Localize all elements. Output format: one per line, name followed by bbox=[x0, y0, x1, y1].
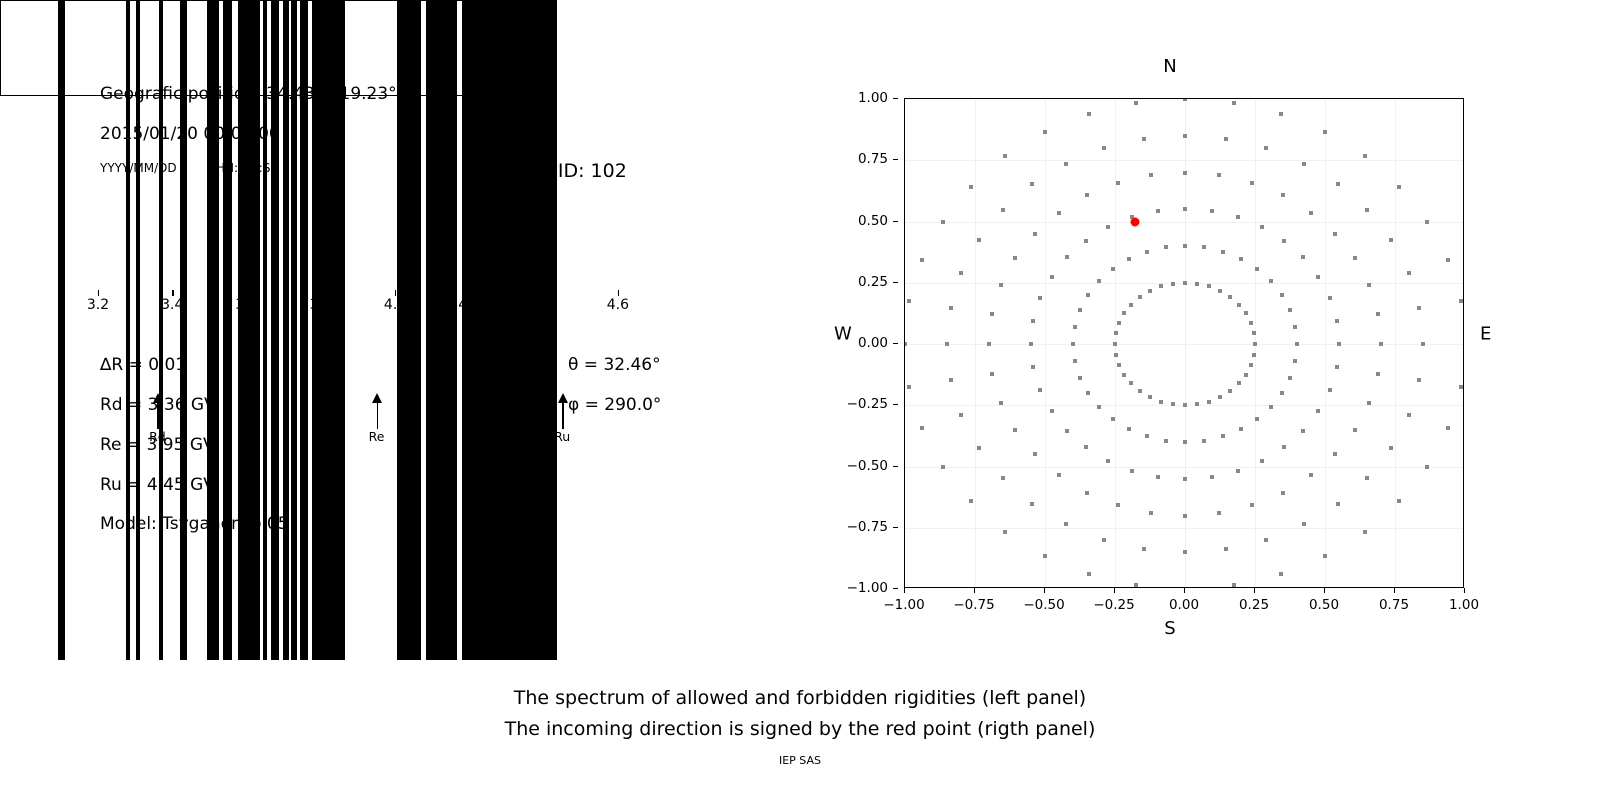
x-axis-labels: −1.00−0.75−0.50−0.250.000.250.500.751.00 bbox=[904, 588, 1464, 618]
scatter-point bbox=[1365, 208, 1369, 212]
scatter-point bbox=[1389, 238, 1393, 242]
forbidden-band bbox=[238, 0, 260, 96]
axis-tick-label: 3.2 bbox=[87, 297, 109, 313]
scatter-point bbox=[969, 185, 973, 189]
scatter-point bbox=[1064, 522, 1068, 526]
scatter-point bbox=[1087, 112, 1091, 116]
scatter-point bbox=[1337, 342, 1341, 346]
scatter-point bbox=[941, 220, 945, 224]
scatter-point bbox=[1353, 428, 1357, 432]
scatter-point bbox=[1129, 381, 1133, 385]
axis-tick bbox=[321, 290, 322, 296]
scatter-point bbox=[1106, 459, 1110, 463]
scatter-point bbox=[1446, 426, 1450, 430]
y-axis-tick-label: 0.00 bbox=[858, 335, 888, 351]
arrow-shaft bbox=[562, 402, 564, 429]
scatter-point bbox=[1239, 257, 1243, 261]
scatter-point bbox=[1111, 267, 1115, 271]
x-axis-tick bbox=[1394, 588, 1395, 593]
scatter-point bbox=[1030, 182, 1034, 186]
y-axis-tick bbox=[893, 98, 898, 99]
y-axis-tick-label: 0.75 bbox=[858, 151, 888, 167]
param-ru: Ru = 4.45 GV bbox=[100, 475, 215, 495]
scatter-point bbox=[1323, 554, 1327, 558]
x-axis-tick bbox=[1044, 588, 1045, 593]
scatter-point bbox=[1260, 459, 1264, 463]
scatter-point bbox=[1183, 207, 1187, 211]
y-axis-tick-label: 1.00 bbox=[858, 90, 888, 106]
scatter-point bbox=[1255, 417, 1259, 421]
scatter-point bbox=[1218, 289, 1222, 293]
forbidden-band bbox=[462, 0, 557, 96]
scatter-point bbox=[1097, 405, 1101, 409]
scatter-point bbox=[1164, 245, 1168, 249]
scatter-point bbox=[1142, 547, 1146, 551]
scatter-point bbox=[1138, 295, 1142, 299]
scatter-point bbox=[1183, 171, 1187, 175]
scatter-point bbox=[1293, 359, 1297, 363]
x-axis-tick-label: −1.00 bbox=[883, 597, 924, 613]
scatter-point bbox=[1236, 469, 1240, 473]
scatter-point bbox=[1316, 409, 1320, 413]
scatter-point bbox=[1279, 112, 1283, 116]
scatter-point bbox=[1367, 283, 1371, 287]
scatter-point bbox=[1085, 491, 1089, 495]
scatter-point bbox=[1333, 232, 1337, 236]
scatter-point bbox=[1117, 321, 1121, 325]
axis-tick bbox=[172, 290, 173, 296]
forbidden-band bbox=[397, 0, 421, 96]
scatter-point bbox=[1264, 146, 1268, 150]
scatter-point bbox=[1293, 325, 1297, 329]
scatter-point bbox=[1207, 284, 1211, 288]
scatter-point bbox=[1376, 312, 1380, 316]
scatter-point bbox=[1463, 342, 1464, 346]
scatter-point bbox=[1029, 342, 1033, 346]
scatter-point bbox=[1446, 258, 1450, 262]
scatter-point bbox=[1183, 403, 1187, 407]
arrow-shaft bbox=[377, 402, 379, 429]
axis-tick-label: 3.6 bbox=[235, 297, 257, 313]
gridline-vertical bbox=[1045, 99, 1046, 587]
scatter-point bbox=[1122, 311, 1126, 315]
scatter-point bbox=[1043, 130, 1047, 134]
x-axis-tick bbox=[1254, 588, 1255, 593]
scatter-point bbox=[1117, 363, 1121, 367]
scatter-point bbox=[1145, 434, 1149, 438]
scatter-point bbox=[1336, 182, 1340, 186]
scatter-point bbox=[1116, 503, 1120, 507]
scatter-point bbox=[1323, 130, 1327, 134]
scatter-point bbox=[949, 306, 953, 310]
scatter-point bbox=[1244, 373, 1248, 377]
scatter-point bbox=[1281, 193, 1285, 197]
scatter-point bbox=[1159, 284, 1163, 288]
scatter-point bbox=[1129, 303, 1133, 307]
y-axis-tick-label: −0.75 bbox=[847, 519, 888, 535]
scatter-point bbox=[1407, 413, 1411, 417]
scatter-point bbox=[1183, 477, 1187, 481]
scatter-point bbox=[1195, 402, 1199, 406]
param-model: Model: Tsyganenko 05 bbox=[100, 514, 289, 534]
scatter-point bbox=[945, 342, 949, 346]
scatter-point bbox=[1097, 279, 1101, 283]
scatter-point bbox=[1013, 428, 1017, 432]
scatter-point bbox=[1328, 388, 1332, 392]
scatter-point bbox=[1417, 378, 1421, 382]
scatter-point bbox=[1224, 137, 1228, 141]
scatter-point bbox=[1071, 342, 1075, 346]
gridline-vertical bbox=[1325, 99, 1326, 587]
caption-line-2: The incoming direction is signed by the … bbox=[0, 718, 1600, 740]
scatter-point bbox=[999, 401, 1003, 405]
scatter-point bbox=[1086, 391, 1090, 395]
scatter-point bbox=[1264, 538, 1268, 542]
scatter-point bbox=[1207, 400, 1211, 404]
scatter-point bbox=[1363, 530, 1367, 534]
scatter-point bbox=[1302, 522, 1306, 526]
axis-tick-label: 4.0 bbox=[384, 297, 406, 313]
scatter-point bbox=[1159, 400, 1163, 404]
param-delta-r: ∆R = 0.01 bbox=[100, 355, 186, 375]
gridline-horizontal bbox=[905, 528, 1463, 529]
y-axis-tick bbox=[893, 221, 898, 222]
scatter-point bbox=[990, 372, 994, 376]
scatter-point bbox=[1309, 473, 1313, 477]
scatter-point bbox=[1149, 511, 1153, 515]
scatter-point bbox=[1145, 250, 1149, 254]
scatter-point bbox=[1111, 417, 1115, 421]
scatter-point bbox=[1057, 211, 1061, 215]
scatter-point bbox=[1336, 502, 1340, 506]
axis-tick bbox=[544, 290, 545, 296]
axis-tick-label: 4.6 bbox=[607, 297, 629, 313]
x-axis-tick-label: −0.75 bbox=[953, 597, 994, 613]
marker-label: Ru bbox=[554, 429, 570, 444]
scatter-point bbox=[1033, 232, 1037, 236]
scatter-point bbox=[1232, 101, 1236, 105]
compass-south-label: S bbox=[1164, 618, 1175, 639]
scatter-point bbox=[1279, 572, 1283, 576]
scatter-point bbox=[1134, 583, 1138, 587]
scatter-point bbox=[1114, 353, 1118, 357]
scatter-point bbox=[1376, 372, 1380, 376]
footer-credit: IEP SAS bbox=[0, 754, 1600, 767]
param-re: Re = 3.95 GV bbox=[100, 435, 215, 455]
scatter-point bbox=[1149, 173, 1153, 177]
scatter-point bbox=[907, 299, 911, 303]
axis-tick bbox=[247, 290, 248, 296]
scatter-point bbox=[1459, 299, 1463, 303]
scatter-point bbox=[1363, 154, 1367, 158]
caption-line-1: The spectrum of allowed and forbidden ri… bbox=[0, 687, 1600, 709]
scatter-point bbox=[1288, 308, 1292, 312]
scatter-point bbox=[1228, 295, 1232, 299]
scatter-point bbox=[1078, 308, 1082, 312]
marker-label: Re bbox=[369, 429, 385, 444]
forbidden-band bbox=[180, 0, 187, 96]
scatter-point bbox=[1295, 342, 1299, 346]
scatter-point bbox=[1164, 439, 1168, 443]
scatter-point bbox=[1282, 239, 1286, 243]
scatter-point bbox=[1459, 385, 1463, 389]
axis-tick bbox=[395, 290, 396, 296]
scatter-point bbox=[1183, 550, 1187, 554]
scatter-point bbox=[1113, 342, 1117, 346]
scatter-point bbox=[1116, 181, 1120, 185]
rigidity-axis: 3.23.43.63.84.04.24.44.6 bbox=[98, 290, 655, 298]
forbidden-band bbox=[300, 0, 308, 96]
param-phi: φ = 290.0° bbox=[568, 395, 661, 415]
axis-tick-label: 4.2 bbox=[458, 297, 480, 313]
scatter-point bbox=[1102, 146, 1106, 150]
scatter-point bbox=[1202, 439, 1206, 443]
scatter-point bbox=[1260, 225, 1264, 229]
scatter-point bbox=[969, 499, 973, 503]
scatter-point bbox=[1050, 275, 1054, 279]
scatter-point bbox=[1033, 452, 1037, 456]
scatter-point bbox=[1250, 181, 1254, 185]
scatter-point bbox=[1183, 244, 1187, 248]
compass-east-label: E bbox=[1480, 324, 1491, 345]
scatter-point bbox=[1064, 162, 1068, 166]
x-axis-tick-label: 0.50 bbox=[1309, 597, 1339, 613]
scatter-point bbox=[1134, 101, 1138, 105]
scatter-point bbox=[1425, 465, 1429, 469]
scatter-point bbox=[1301, 255, 1305, 259]
x-axis-tick-label: −0.50 bbox=[1023, 597, 1064, 613]
scatter-point bbox=[1084, 445, 1088, 449]
forbidden-band bbox=[312, 0, 345, 96]
scatter-point bbox=[1280, 293, 1284, 297]
scatter-point bbox=[1050, 409, 1054, 413]
x-axis-tick-label: 0.75 bbox=[1379, 597, 1409, 613]
compass-north-label: N bbox=[1163, 56, 1176, 77]
scatter-point bbox=[1202, 245, 1206, 249]
scatter-point bbox=[1302, 162, 1306, 166]
y-axis-tick-label: 0.50 bbox=[858, 213, 888, 229]
axis-tick-label: 3.4 bbox=[161, 297, 183, 313]
scatter-point bbox=[1127, 427, 1131, 431]
scatter-point bbox=[1282, 445, 1286, 449]
scatter-point bbox=[1335, 365, 1339, 369]
scatter-point bbox=[977, 446, 981, 450]
scatter-point bbox=[1114, 331, 1118, 335]
scatter-point bbox=[1228, 389, 1232, 393]
scatter-point bbox=[1301, 429, 1305, 433]
scatter-point bbox=[1065, 429, 1069, 433]
scatter-point bbox=[977, 238, 981, 242]
scatter-point bbox=[1249, 363, 1253, 367]
scatter-point bbox=[1043, 554, 1047, 558]
forbidden-band bbox=[263, 0, 267, 96]
scatter-point bbox=[1127, 257, 1131, 261]
scatter-point bbox=[1031, 365, 1035, 369]
y-axis-tick bbox=[893, 282, 898, 283]
y-axis-tick-label: −0.25 bbox=[847, 396, 888, 412]
scatter-point bbox=[1195, 282, 1199, 286]
scatter-point bbox=[1217, 173, 1221, 177]
y-axis-tick bbox=[893, 159, 898, 160]
y-axis-labels: −1.00−0.75−0.50−0.250.000.250.500.751.00 bbox=[820, 98, 898, 588]
scatter-point bbox=[1316, 275, 1320, 279]
scatter-point bbox=[1244, 311, 1248, 315]
scatter-point bbox=[1122, 373, 1126, 377]
incoming-direction-point bbox=[1130, 217, 1139, 226]
forbidden-band bbox=[291, 0, 297, 96]
scatter-point bbox=[1148, 395, 1152, 399]
scatter-point bbox=[1183, 440, 1187, 444]
scatter-point bbox=[1417, 306, 1421, 310]
scatter-point bbox=[1013, 256, 1017, 260]
scatter-point bbox=[920, 258, 924, 262]
scatter-point bbox=[959, 271, 963, 275]
scatter-point bbox=[1288, 376, 1292, 380]
scatter-point bbox=[1237, 303, 1241, 307]
scatter-point bbox=[1407, 271, 1411, 275]
scatter-point bbox=[1379, 342, 1383, 346]
scatter-point bbox=[1156, 209, 1160, 213]
x-axis-tick-label: 1.00 bbox=[1449, 597, 1479, 613]
scatter-point bbox=[1142, 137, 1146, 141]
gridline-horizontal bbox=[905, 160, 1463, 161]
scatter-point bbox=[1183, 281, 1187, 285]
scatter-point bbox=[1253, 342, 1257, 346]
scatter-point bbox=[1221, 250, 1225, 254]
scatter-point bbox=[1001, 208, 1005, 212]
scatter-point bbox=[1183, 98, 1187, 101]
scatter-point bbox=[1078, 376, 1082, 380]
scatter-point bbox=[1421, 342, 1425, 346]
scatter-point bbox=[1085, 193, 1089, 197]
y-axis-tick bbox=[893, 588, 898, 589]
param-theta: θ = 32.46° bbox=[568, 355, 661, 375]
forbidden-band bbox=[159, 0, 164, 96]
forbidden-band bbox=[426, 0, 456, 96]
scatter-point bbox=[1249, 321, 1253, 325]
scatter-point bbox=[949, 378, 953, 382]
x-axis-tick-label: 0.25 bbox=[1239, 597, 1269, 613]
scatter-point bbox=[1148, 289, 1152, 293]
y-axis-tick bbox=[893, 404, 898, 405]
scatter-point bbox=[1102, 538, 1106, 542]
forbidden-band bbox=[283, 0, 289, 96]
y-axis-tick-label: 0.25 bbox=[858, 274, 888, 290]
scatter-point bbox=[1156, 475, 1160, 479]
scatter-point bbox=[1003, 530, 1007, 534]
scatter-point bbox=[1171, 402, 1175, 406]
x-axis-tick bbox=[1324, 588, 1325, 593]
scatter-point bbox=[1367, 401, 1371, 405]
scatter-point bbox=[999, 283, 1003, 287]
forbidden-band bbox=[207, 0, 219, 96]
rigidity-spectrum-bar bbox=[0, 0, 557, 96]
axis-tick bbox=[618, 290, 619, 296]
scatter-point bbox=[1333, 452, 1337, 456]
scatter-point bbox=[1087, 572, 1091, 576]
scatter-point bbox=[1269, 279, 1273, 283]
scatter-point bbox=[1280, 391, 1284, 395]
y-axis-tick bbox=[893, 466, 898, 467]
scatter-point bbox=[1252, 331, 1256, 335]
scatter-point bbox=[1065, 255, 1069, 259]
scatter-point bbox=[1183, 134, 1187, 138]
scatter-point bbox=[1221, 434, 1225, 438]
scatter-point bbox=[1397, 185, 1401, 189]
y-axis-tick-label: −1.00 bbox=[847, 580, 888, 596]
scatter-point bbox=[1252, 353, 1256, 357]
scatter-point bbox=[1239, 427, 1243, 431]
y-axis-tick-label: −0.50 bbox=[847, 458, 888, 474]
scatter-point bbox=[904, 342, 907, 346]
y-axis-tick bbox=[893, 343, 898, 344]
scatter-point bbox=[1001, 476, 1005, 480]
axis-tick bbox=[469, 290, 470, 296]
scatter-point bbox=[907, 385, 911, 389]
forbidden-band bbox=[126, 0, 131, 96]
scatter-point bbox=[1073, 325, 1077, 329]
scatter-point bbox=[1217, 511, 1221, 515]
scatter-point bbox=[1073, 359, 1077, 363]
scatter-point bbox=[1365, 476, 1369, 480]
scatter-point bbox=[990, 312, 994, 316]
scatter-point bbox=[1353, 256, 1357, 260]
x-axis-tick-label: −0.25 bbox=[1093, 597, 1134, 613]
x-axis-tick bbox=[1184, 588, 1185, 593]
scatter-point bbox=[987, 342, 991, 346]
gridline-horizontal bbox=[905, 467, 1463, 468]
scatter-point bbox=[1086, 293, 1090, 297]
scatter-point bbox=[1130, 469, 1134, 473]
scatter-point bbox=[1138, 389, 1142, 393]
scatter-point bbox=[1237, 381, 1241, 385]
axis-tick bbox=[98, 290, 99, 296]
scatter-point bbox=[1281, 491, 1285, 495]
forbidden-band bbox=[223, 0, 232, 96]
scatter-point bbox=[1224, 547, 1228, 551]
scatter-point bbox=[1031, 319, 1035, 323]
scatter-point bbox=[1003, 154, 1007, 158]
scatter-point bbox=[1183, 514, 1187, 518]
forbidden-band bbox=[271, 0, 279, 96]
scatter-point bbox=[1236, 215, 1240, 219]
scatter-point bbox=[1250, 503, 1254, 507]
scatter-point bbox=[1397, 499, 1401, 503]
x-axis-tick bbox=[974, 588, 975, 593]
scatter-point bbox=[1057, 473, 1061, 477]
direction-map-panel: N S W E −1.00−0.75−0.50−0.250.000.250.50… bbox=[820, 40, 1520, 660]
gridline-horizontal bbox=[905, 222, 1463, 223]
scatter-point bbox=[1269, 405, 1273, 409]
scatter-point bbox=[959, 413, 963, 417]
scatter-point bbox=[1232, 583, 1236, 587]
scatter-point bbox=[1255, 267, 1259, 271]
direction-scatter-plot bbox=[904, 98, 1464, 588]
rigidity-spectrum-panel: Geografic position: 34.43°S 19.23°E 2015… bbox=[0, 0, 790, 660]
y-axis-tick bbox=[893, 527, 898, 528]
x-axis-tick bbox=[1464, 588, 1465, 593]
scatter-point bbox=[1335, 319, 1339, 323]
x-axis-tick bbox=[904, 588, 905, 593]
forbidden-band bbox=[136, 0, 141, 96]
x-axis-tick-label: 0.00 bbox=[1169, 597, 1199, 613]
scatter-point bbox=[1084, 239, 1088, 243]
scatter-point bbox=[941, 465, 945, 469]
scatter-point bbox=[1389, 446, 1393, 450]
axis-tick-label: 4.4 bbox=[532, 297, 554, 313]
scatter-point bbox=[1218, 395, 1222, 399]
gridline-vertical bbox=[1395, 99, 1396, 587]
